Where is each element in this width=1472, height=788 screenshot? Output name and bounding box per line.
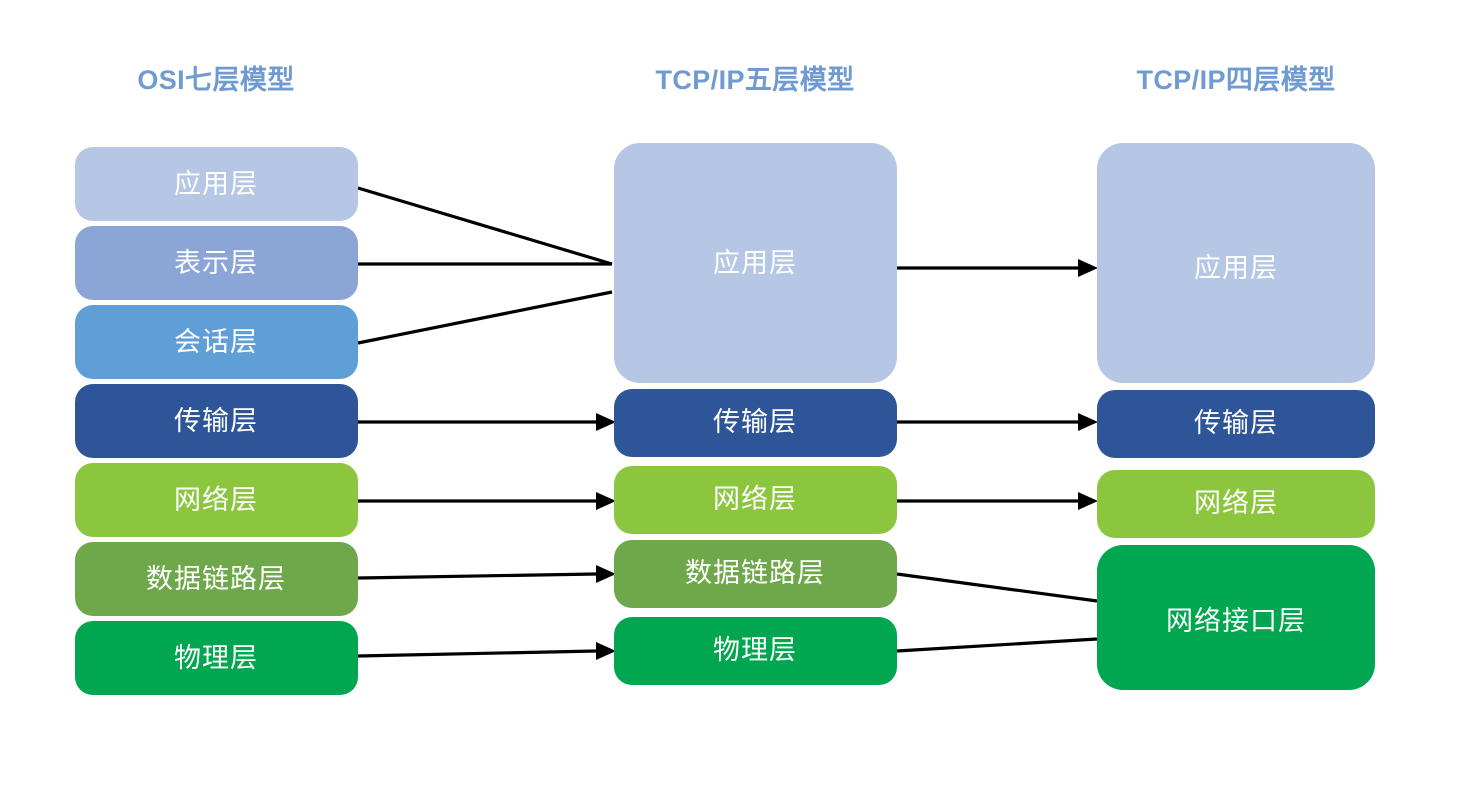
layer-box-tcpip4-network-interface[interactable]: 网络接口层	[1097, 545, 1375, 690]
layer-box-osi-application[interactable]: 应用层	[75, 147, 358, 221]
layer-box-tcpip5-transport[interactable]: 传输层	[614, 389, 897, 457]
connector-tcpip5-datalink-to-tcpip4-netinterface	[897, 574, 1097, 601]
layer-box-tcpip5-application[interactable]: 应用层	[614, 143, 897, 383]
layer-label-tcpip4-application: 应用层	[1194, 253, 1278, 283]
layer-box-tcpip5-network[interactable]: 网络层	[614, 466, 897, 534]
connector-group-osi-to-tcpip5	[358, 188, 616, 660]
layer-label-osi-network: 网络层	[174, 485, 258, 515]
connector-osi-transport-to-tcpip5-transport	[358, 413, 616, 431]
connector-tcpip5-network-to-tcpip4-network	[897, 492, 1098, 510]
connector-tcpip5-transport-to-tcpip4-transport	[897, 413, 1098, 431]
connector-tcpip5-physical-to-tcpip4-netinterface	[897, 639, 1097, 651]
layer-box-osi-physical[interactable]: 物理层	[75, 621, 358, 695]
layer-box-tcpip5-physical[interactable]: 物理层	[614, 617, 897, 685]
layer-label-tcpip5-datalink: 数据链路层	[685, 558, 825, 588]
connector-tcpip5-application-to-tcpip4-application	[897, 259, 1098, 277]
layer-box-tcpip4-transport[interactable]: 传输层	[1097, 390, 1375, 458]
connector-osi-datalink-to-tcpip5-datalink	[358, 565, 616, 583]
layer-box-osi-session[interactable]: 会话层	[75, 305, 358, 379]
connector-osi-application-to-tcpip5-application	[358, 188, 612, 264]
layer-label-tcpip5-application: 应用层	[713, 248, 797, 278]
layer-box-tcpip4-application[interactable]: 应用层	[1097, 143, 1375, 383]
layer-box-tcpip5-datalink[interactable]: 数据链路层	[614, 540, 897, 608]
layer-box-osi-presentation[interactable]: 表示层	[75, 226, 358, 300]
layer-box-osi-network[interactable]: 网络层	[75, 463, 358, 537]
layer-label-osi-session: 会话层	[174, 327, 258, 357]
column-tcpip5: 应用层 传输层 网络层 数据链路层 物理层	[614, 143, 897, 685]
column-title-tcpip5: TCP/IP五层模型	[655, 65, 854, 95]
layer-box-osi-transport[interactable]: 传输层	[75, 384, 358, 458]
layer-label-tcpip4-network-interface: 网络接口层	[1166, 606, 1306, 636]
column-tcpip4: 应用层 传输层 网络层 网络接口层	[1097, 143, 1375, 690]
layer-label-osi-presentation: 表示层	[174, 248, 258, 278]
connector-osi-physical-to-tcpip5-physical	[358, 642, 616, 660]
layer-label-osi-datalink: 数据链路层	[146, 564, 286, 594]
layer-label-tcpip5-network: 网络层	[713, 484, 797, 514]
layer-label-tcpip4-network: 网络层	[1194, 488, 1278, 518]
layer-label-osi-application: 应用层	[174, 169, 258, 199]
layer-label-osi-physical: 物理层	[174, 643, 258, 673]
layer-label-tcpip4-transport: 传输层	[1194, 408, 1278, 438]
connector-osi-session-to-tcpip5-application	[358, 292, 612, 343]
layer-model-diagram: OSI七层模型 TCP/IP五层模型 TCP/IP四层模型	[0, 0, 1472, 788]
layer-box-osi-datalink[interactable]: 数据链路层	[75, 542, 358, 616]
column-title-osi: OSI七层模型	[137, 65, 294, 95]
connector-group-tcpip5-to-tcpip4	[897, 259, 1098, 651]
layer-box-tcpip4-network[interactable]: 网络层	[1097, 470, 1375, 538]
connector-osi-network-to-tcpip5-network	[358, 492, 616, 510]
layer-label-tcpip5-transport: 传输层	[713, 407, 797, 437]
layer-label-osi-transport: 传输层	[174, 406, 258, 436]
column-title-tcpip4: TCP/IP四层模型	[1136, 65, 1335, 95]
layer-label-tcpip5-physical: 物理层	[713, 635, 797, 665]
column-osi: 应用层 表示层 会话层 传输层 网络层 数据链路层	[75, 147, 358, 695]
diagram-canvas: OSI七层模型 TCP/IP五层模型 TCP/IP四层模型	[0, 0, 1472, 788]
